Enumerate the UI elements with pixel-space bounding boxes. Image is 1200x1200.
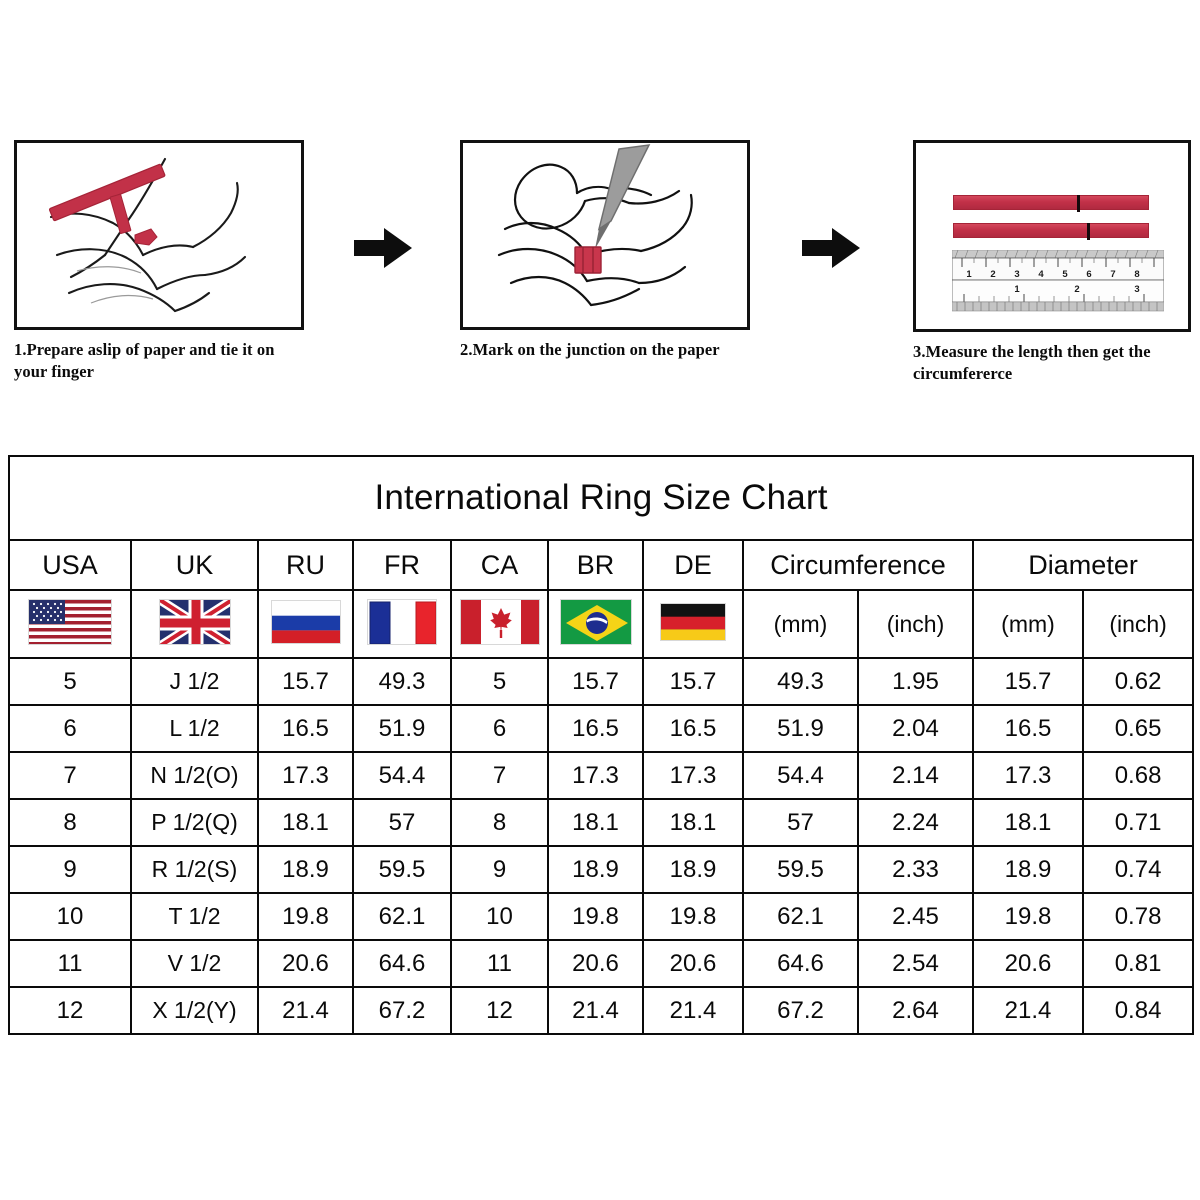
cell-circ_mm: 67.2 (743, 987, 858, 1034)
cell-circ_in: 2.45 (858, 893, 973, 940)
cell-circ_in: 2.04 (858, 705, 973, 752)
cell-circ_mm: 51.9 (743, 705, 858, 752)
table-row: 6L 1/216.551.9616.516.551.92.0416.50.65 (9, 705, 1193, 752)
instruction-steps: 1.Prepare aslip of paper and tie it on y… (0, 140, 1200, 430)
cell-br: 15.7 (548, 658, 643, 705)
flag-cell-de (643, 590, 743, 658)
svg-text:4: 4 (1038, 269, 1044, 280)
cell-circ_in: 1.95 (858, 658, 973, 705)
cell-usa: 8 (9, 799, 131, 846)
table-flag-row: (mm) (inch) (mm) (inch) (9, 590, 1193, 658)
cell-fr: 62.1 (353, 893, 451, 940)
svg-text:5: 5 (1062, 269, 1068, 280)
paper-strip-mark-top (1077, 195, 1080, 212)
flag-cell-uk (131, 590, 258, 658)
cell-dia_mm: 19.8 (973, 893, 1083, 940)
cell-ca: 12 (451, 987, 548, 1034)
header-usa: USA (9, 540, 131, 590)
cell-fr: 57 (353, 799, 451, 846)
svg-text:3: 3 (1014, 269, 1019, 280)
cell-dia_in: 0.62 (1083, 658, 1193, 705)
cell-ca: 5 (451, 658, 548, 705)
step-2-caption: 2.Mark on the junction on the paper (460, 339, 750, 361)
cell-br: 20.6 (548, 940, 643, 987)
cell-de: 19.8 (643, 893, 743, 940)
table-data-body: 5J 1/215.749.3515.715.749.31.9515.70.626… (9, 658, 1193, 1034)
cell-circ_mm: 62.1 (743, 893, 858, 940)
cell-usa: 9 (9, 846, 131, 893)
cell-dia_mm: 17.3 (973, 752, 1083, 799)
cell-dia_in: 0.84 (1083, 987, 1193, 1034)
cell-dia_mm: 21.4 (973, 987, 1083, 1034)
paper-strip-mark-bottom (1087, 223, 1090, 240)
cell-de: 18.9 (643, 846, 743, 893)
table-row: 8P 1/2(Q)18.157818.118.1572.2418.10.71 (9, 799, 1193, 846)
cell-uk: T 1/2 (131, 893, 258, 940)
cell-ca: 6 (451, 705, 548, 752)
flag-brazil-icon (560, 599, 632, 645)
step-1-caption: 1.Prepare aslip of paper and tie it on y… (14, 339, 304, 383)
cell-uk: X 1/2(Y) (131, 987, 258, 1034)
ring-size-chart: International Ring Size Chart USA UK RU … (8, 455, 1192, 1035)
cell-fr: 59.5 (353, 846, 451, 893)
table-row: 9R 1/2(S)18.959.5918.918.959.52.3318.90.… (9, 846, 1193, 893)
cell-uk: V 1/2 (131, 940, 258, 987)
cell-dia_mm: 18.1 (973, 799, 1083, 846)
cell-de: 15.7 (643, 658, 743, 705)
cell-ru: 19.8 (258, 893, 353, 940)
cell-usa: 5 (9, 658, 131, 705)
cell-br: 21.4 (548, 987, 643, 1034)
header-circumference: Circumference (743, 540, 973, 590)
flag-france-icon (367, 599, 437, 645)
cell-de: 16.5 (643, 705, 743, 752)
cell-fr: 51.9 (353, 705, 451, 752)
ring-size-table: International Ring Size Chart USA UK RU … (8, 455, 1194, 1035)
step-2-illustration-panel (460, 140, 750, 330)
step-3: 123 456 78 (913, 140, 1191, 385)
cell-fr: 67.2 (353, 987, 451, 1034)
unit-circumference-inch: (inch) (858, 590, 973, 658)
cell-ru: 18.9 (258, 846, 353, 893)
flag-cell-fr (353, 590, 451, 658)
cell-ca: 9 (451, 846, 548, 893)
table-header-row: USA UK RU FR CA BR DE Circumference Diam… (9, 540, 1193, 590)
svg-text:2: 2 (1074, 284, 1079, 295)
cell-uk: R 1/2(S) (131, 846, 258, 893)
cell-dia_mm: 18.9 (973, 846, 1083, 893)
cell-circ_mm: 49.3 (743, 658, 858, 705)
cell-de: 18.1 (643, 799, 743, 846)
header-br: BR (548, 540, 643, 590)
arrow-right-icon-2 (800, 226, 862, 270)
hand-with-paper-strip-icon (17, 143, 301, 327)
cell-circ_in: 2.24 (858, 799, 973, 846)
cell-ru: 18.1 (258, 799, 353, 846)
step-2: 2.Mark on the junction on the paper (460, 140, 750, 361)
flag-germany-icon (660, 603, 726, 641)
cell-circ_in: 2.64 (858, 987, 973, 1034)
cell-ru: 16.5 (258, 705, 353, 752)
cell-dia_in: 0.74 (1083, 846, 1193, 893)
flag-cell-ca (451, 590, 548, 658)
cell-br: 16.5 (548, 705, 643, 752)
cell-ca: 10 (451, 893, 548, 940)
arrow-right-icon-1 (352, 226, 414, 270)
cell-dia_in: 0.68 (1083, 752, 1193, 799)
cell-uk: L 1/2 (131, 705, 258, 752)
cell-br: 18.1 (548, 799, 643, 846)
flag-russia-icon (271, 600, 341, 644)
header-ca: CA (451, 540, 548, 590)
cell-de: 21.4 (643, 987, 743, 1034)
flag-cell-br (548, 590, 643, 658)
cell-circ_mm: 54.4 (743, 752, 858, 799)
flag-uk-icon (159, 599, 231, 645)
cell-dia_in: 0.78 (1083, 893, 1193, 940)
table-row: 11V 1/220.664.61120.620.664.62.5420.60.8… (9, 940, 1193, 987)
cell-circ_mm: 57 (743, 799, 858, 846)
header-uk: UK (131, 540, 258, 590)
cell-circ_mm: 64.6 (743, 940, 858, 987)
cell-usa: 11 (9, 940, 131, 987)
cell-uk: J 1/2 (131, 658, 258, 705)
cell-uk: N 1/2(O) (131, 752, 258, 799)
unit-diameter-inch: (inch) (1083, 590, 1193, 658)
ring-size-guide-page: 1.Prepare aslip of paper and tie it on y… (0, 0, 1200, 1200)
header-ru: RU (258, 540, 353, 590)
cell-fr: 54.4 (353, 752, 451, 799)
cell-ru: 20.6 (258, 940, 353, 987)
cell-dia_in: 0.65 (1083, 705, 1193, 752)
ruler-icon: 123 456 78 (952, 250, 1164, 315)
cell-dia_in: 0.71 (1083, 799, 1193, 846)
svg-text:7: 7 (1110, 269, 1115, 280)
table-row: 12X 1/2(Y)21.467.21221.421.467.22.6421.4… (9, 987, 1193, 1034)
unit-circumference-mm: (mm) (743, 590, 858, 658)
cell-dia_in: 0.81 (1083, 940, 1193, 987)
chart-title: International Ring Size Chart (9, 456, 1193, 540)
cell-usa: 10 (9, 893, 131, 940)
cell-dia_mm: 20.6 (973, 940, 1083, 987)
step-3-illustration-panel: 123 456 78 (913, 140, 1191, 332)
step-1: 1.Prepare aslip of paper and tie it on y… (14, 140, 304, 383)
cell-circ_in: 2.54 (858, 940, 973, 987)
cell-ru: 21.4 (258, 987, 353, 1034)
cell-ca: 8 (451, 799, 548, 846)
cell-ca: 7 (451, 752, 548, 799)
cell-de: 20.6 (643, 940, 743, 987)
cell-dia_mm: 16.5 (973, 705, 1083, 752)
table-title-row: International Ring Size Chart (9, 456, 1193, 540)
cell-usa: 6 (9, 705, 131, 752)
cell-circ_mm: 59.5 (743, 846, 858, 893)
hand-marking-paper-with-pen-icon (463, 143, 747, 327)
cell-ru: 15.7 (258, 658, 353, 705)
cell-fr: 64.6 (353, 940, 451, 987)
cell-br: 17.3 (548, 752, 643, 799)
paper-strip-top (953, 195, 1149, 210)
cell-circ_in: 2.33 (858, 846, 973, 893)
table-row: 7N 1/2(O)17.354.4717.317.354.42.1417.30.… (9, 752, 1193, 799)
header-fr: FR (353, 540, 451, 590)
flag-cell-usa (9, 590, 131, 658)
flag-canada-icon (460, 599, 540, 645)
svg-text:8: 8 (1134, 269, 1139, 280)
table-row: 10T 1/219.862.11019.819.862.12.4519.80.7… (9, 893, 1193, 940)
svg-text:6: 6 (1086, 269, 1091, 280)
cell-br: 18.9 (548, 846, 643, 893)
step-3-caption: 3.Measure the length then get the circum… (913, 341, 1191, 385)
unit-diameter-mm: (mm) (973, 590, 1083, 658)
svg-text:2: 2 (990, 269, 995, 280)
svg-text:3: 3 (1134, 284, 1139, 295)
flag-cell-ru (258, 590, 353, 658)
svg-text:1: 1 (966, 269, 972, 280)
cell-br: 19.8 (548, 893, 643, 940)
cell-de: 17.3 (643, 752, 743, 799)
cell-ru: 17.3 (258, 752, 353, 799)
cell-circ_in: 2.14 (858, 752, 973, 799)
cell-fr: 49.3 (353, 658, 451, 705)
cell-usa: 7 (9, 752, 131, 799)
cell-dia_mm: 15.7 (973, 658, 1083, 705)
cell-usa: 12 (9, 987, 131, 1034)
paper-strip-bottom (953, 223, 1149, 238)
cell-uk: P 1/2(Q) (131, 799, 258, 846)
cell-ca: 11 (451, 940, 548, 987)
svg-text:1: 1 (1014, 284, 1020, 295)
header-de: DE (643, 540, 743, 590)
header-diameter: Diameter (973, 540, 1193, 590)
table-row: 5J 1/215.749.3515.715.749.31.9515.70.62 (9, 658, 1193, 705)
step-1-illustration-panel (14, 140, 304, 330)
flag-usa-icon (28, 599, 112, 645)
